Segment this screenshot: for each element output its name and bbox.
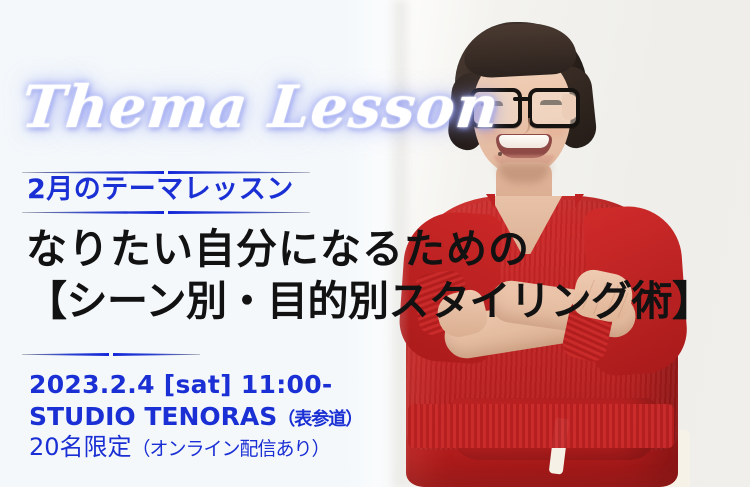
headline-line-2: 【シーン別・目的別スタイリング術】 [26, 280, 712, 323]
glasses-bridge [513, 97, 529, 101]
thema-lesson-banner: Thema Lesson 2月のテーマレッスン なりたい自分になるための 【シー… [0, 0, 750, 487]
divider-half-right [168, 211, 310, 214]
venue-area: （表参道） [277, 409, 362, 430]
knit-rib-hem [408, 404, 674, 448]
event-datetime: 2023.2.4 [sat] 11:00- [29, 370, 362, 401]
venue-name: STUDIO TENORAS [29, 402, 277, 431]
mole [498, 152, 502, 156]
subtitle-month-theme: 2月のテーマレッスン [27, 176, 294, 203]
capacity-count: 20名限定 [29, 433, 132, 461]
capacity-note: （オンライン配信あり） [132, 438, 330, 460]
divider-bottom [22, 208, 310, 217]
divider-lower [22, 350, 200, 359]
hair-fringe [463, 21, 578, 79]
divider-half-left [22, 353, 109, 356]
script-logo-thema-lesson: Thema Lesson [19, 78, 502, 136]
headline-line-1: なりたい自分になるための [26, 228, 712, 271]
headline: なりたい自分になるための 【シーン別・目的別スタイリング術】 [26, 228, 712, 324]
event-venue: STUDIO TENORAS（表参道） [29, 401, 362, 433]
divider-half-left [22, 211, 164, 214]
teeth [499, 135, 549, 148]
divider-half-right [113, 353, 200, 356]
event-info: 2023.2.4 [sat] 11:00- STUDIO TENORAS（表参道… [29, 370, 362, 463]
event-capacity: 20名限定（オンライン配信あり） [29, 432, 362, 463]
glasses-lens-right [528, 88, 580, 128]
